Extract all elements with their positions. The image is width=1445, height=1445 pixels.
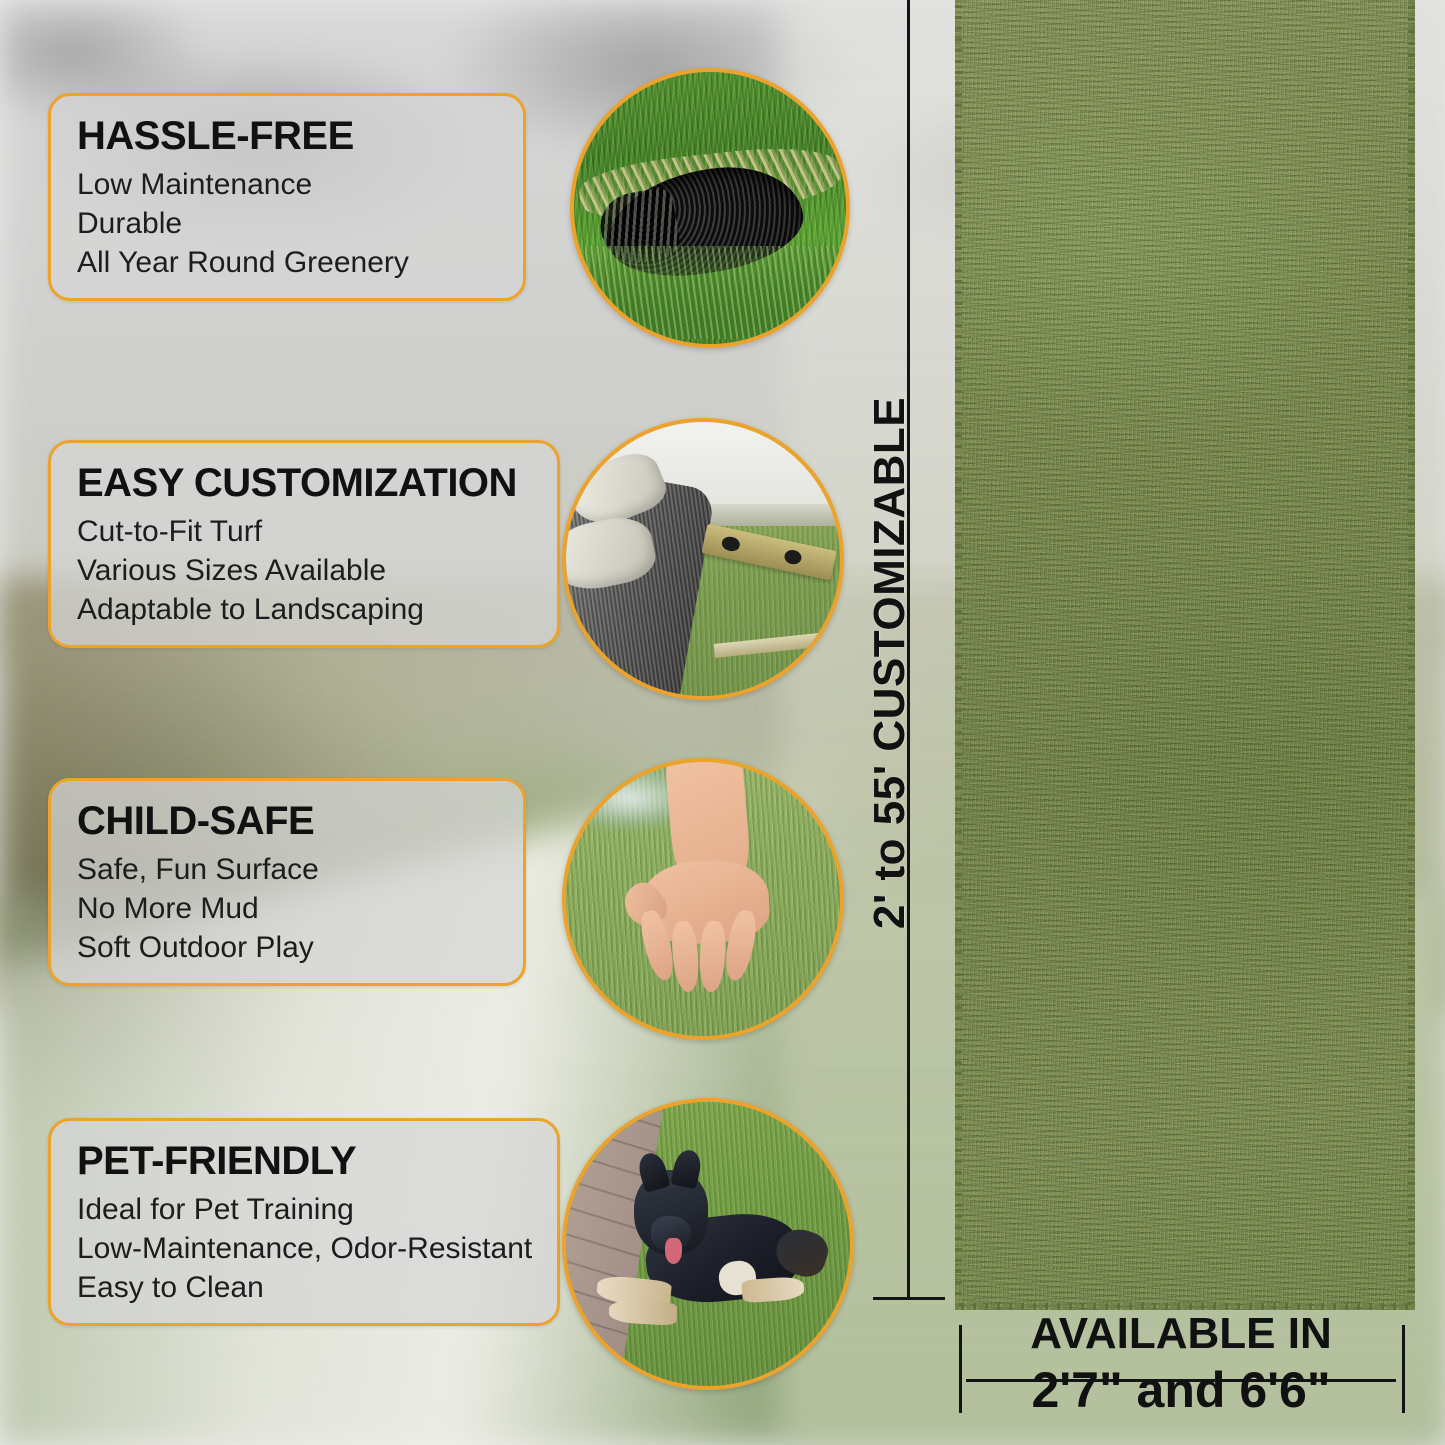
feature-bullet: No More Mud: [77, 889, 497, 928]
gloved-hands-installing-turf-roll-photo: [562, 418, 844, 700]
feature-title: CHILD-SAFE: [77, 801, 497, 842]
horizontal-dimension-cap-left: [959, 1325, 962, 1413]
feature-bullet: All Year Round Greenery: [77, 243, 497, 282]
feature-bullet: Various Sizes Available: [77, 551, 531, 590]
feature-card-hassle-free: HASSLE-FREE Low Maintenance Durable All …: [48, 93, 526, 301]
feature-bullet: Durable: [77, 204, 497, 243]
horizontal-dimension-cap-right: [1402, 1325, 1405, 1413]
feature-title: EASY CUSTOMIZATION: [77, 463, 531, 504]
photo-content: [574, 72, 846, 344]
turf-sample-panel: [955, 0, 1415, 1310]
feature-bullet: Low-Maintenance, Odor-Resistant: [77, 1229, 531, 1268]
feature-bullet: Safe, Fun Surface: [77, 850, 497, 889]
rolled-turf-with-backing-photo: [570, 68, 850, 348]
photo-content: [566, 1102, 850, 1386]
feature-bullet: Low Maintenance: [77, 165, 497, 204]
feature-card-child-safe: CHILD-SAFE Safe, Fun Surface No More Mud…: [48, 778, 526, 986]
feature-bullet: Soft Outdoor Play: [77, 928, 497, 967]
available-heading: AVAILABLE IN: [966, 1312, 1396, 1357]
available-sizes-value: 2'7" and 6'6": [966, 1363, 1396, 1417]
foreground-grass: [585, 246, 841, 338]
turf-edge-left: [955, 0, 962, 1310]
vertical-dimension-end-cap: [873, 1297, 945, 1300]
photo-content: [566, 422, 840, 696]
feature-bullet: Cut-to-Fit Turf: [77, 512, 531, 551]
vertical-dimension-text: 2' to 55' CUSTOMIZABLE: [866, 397, 916, 929]
available-sizes-block: AVAILABLE IN 2'7" and 6'6": [966, 1312, 1396, 1417]
feature-card-easy-customization: EASY CUSTOMIZATION Cut-to-Fit Turf Vario…: [48, 440, 560, 648]
photo-content: [566, 762, 840, 1036]
dog-lying-on-turf-photo: [562, 1098, 854, 1390]
feature-bullet: Ideal for Pet Training: [77, 1190, 531, 1229]
feature-bullet: Easy to Clean: [77, 1268, 531, 1307]
feature-title: PET-FRIENDLY: [77, 1141, 531, 1182]
turf-edge-right: [1408, 0, 1415, 1310]
child-hand-on-turf-photo: [562, 758, 844, 1040]
turf-texture-overlay: [955, 0, 1415, 1310]
feature-title: HASSLE-FREE: [77, 116, 497, 157]
feature-card-pet-friendly: PET-FRIENDLY Ideal for Pet Training Low-…: [48, 1118, 560, 1326]
feature-bullet: Adaptable to Landscaping: [77, 590, 531, 629]
vertical-dimension-label: 2' to 55' CUSTOMIZABLE: [862, 333, 919, 993]
